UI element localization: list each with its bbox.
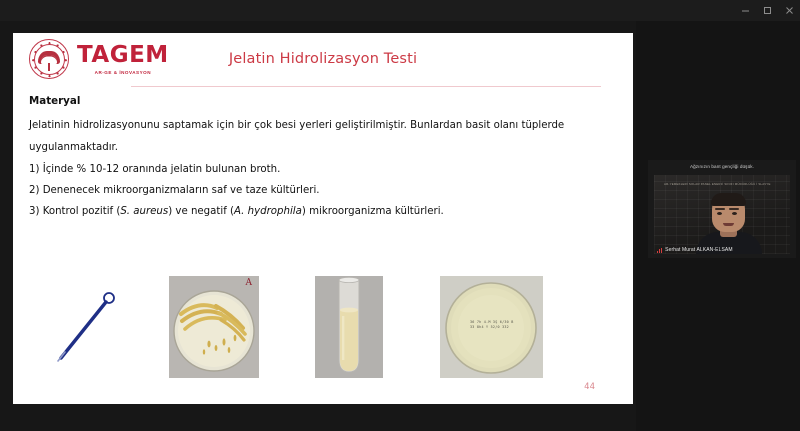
title-divider: [131, 86, 601, 87]
participant-avatar: [696, 192, 762, 254]
signal-bars-icon: [657, 248, 662, 253]
participant-name: Serhat Murat ALKAN-ELSAM: [665, 247, 732, 253]
slide-page-number: 44: [584, 382, 595, 392]
slide-header: TAGEM AR-GE & İNOVASYON Jelatin Hidroliz…: [13, 33, 633, 92]
maximize-button[interactable]: [756, 0, 778, 21]
item-3-prefix: 3) Kontrol pozitif (: [29, 206, 120, 217]
shared-slide[interactable]: TAGEM AR-GE & İNOVASYON Jelatin Hidroliz…: [13, 33, 633, 404]
tagem-wordmark-tagline: AR-GE & İNOVASYON: [77, 70, 169, 75]
plate-label-a: A: [246, 278, 253, 288]
gelatin-broth-tube-photo: [315, 276, 383, 378]
participant-tile[interactable]: Ağzınızın bant gençliği düşük. AR-YEMEKL…: [648, 160, 796, 258]
test-tube-icon: [315, 276, 383, 378]
body-paragraph-1: Jelatinin hidrolizasyonunu saptamak için…: [29, 116, 615, 136]
slide-body: Materyal Jelatinin hidrolizasyonunu sapt…: [29, 95, 615, 222]
inoculation-loop-icon: [56, 288, 118, 362]
streaked-plate-image: [169, 276, 259, 378]
item-3-species-1: S. aureus: [120, 206, 168, 217]
presentation-stage: TAGEM AR-GE & İNOVASYON Jelatin Hidroliz…: [0, 21, 800, 431]
live-caption: Ağzınızın bant gençliği düşük.: [648, 164, 796, 169]
streaked-agar-plate-photo: A: [169, 276, 259, 378]
item-3-middle: ) ve negatif (: [168, 206, 234, 217]
body-list-item-1: 1) İçinde % 10-12 oranında jelatin bulun…: [29, 160, 615, 180]
labelled-agar-plate-photo: 36 7h 4.M 3Ş 6/30 B 33 8h4 Y 52/0 332: [440, 276, 543, 378]
item-3-species-2: A. hydrophila: [234, 206, 302, 217]
body-list-item-3: 3) Kontrol pozitif (S. aureus) ve negati…: [29, 202, 615, 222]
meeting-window: TAGEM AR-GE & İNOVASYON Jelatin Hidroliz…: [0, 0, 800, 431]
participant-video[interactable]: AR-YEMEKLERİ SOLAR PANEL ENERJİ SINIFI M…: [654, 175, 790, 254]
body-list-item-2: 2) Denenecek mikroorganizmaların saf ve …: [29, 181, 615, 201]
plate-handwriting: 36 7h 4.M 3Ş 6/30 B 33 8h4 Y 52/0 332: [470, 320, 514, 330]
participant-name-strip: Serhat Murat ALKAN-ELSAM: [654, 246, 736, 254]
inoculation-loop-photo: [49, 276, 130, 374]
slide-title: Jelatin Hidrolizasyon Testi: [13, 51, 633, 67]
figure-row: A: [13, 276, 633, 384]
body-paragraph-2: uygulanmaktadır.: [29, 138, 615, 158]
wall-sign-text: AR-YEMEKLERİ SOLAR PANEL ENERJİ SINIFI M…: [664, 182, 771, 187]
window-titlebar: [0, 0, 800, 21]
item-3-suffix: ) mikroorganizma kültürleri.: [302, 206, 444, 217]
body-heading: Materyal: [29, 95, 615, 107]
minimize-button[interactable]: [734, 0, 756, 21]
close-button[interactable]: [778, 0, 800, 21]
